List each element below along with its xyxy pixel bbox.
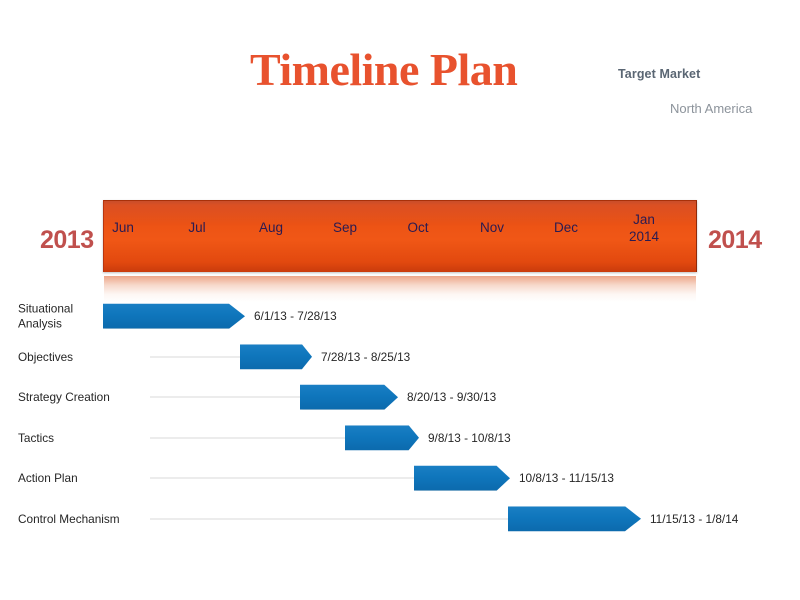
- gantt-leader-line: [150, 397, 300, 398]
- target-market-label: Target Market: [618, 67, 700, 81]
- gantt-bar[interactable]: [414, 466, 510, 491]
- gantt-bar[interactable]: [240, 344, 312, 369]
- month-tick-jun: Jun: [112, 220, 134, 237]
- gantt-bar[interactable]: [103, 304, 245, 329]
- gantt-date-label: 10/8/13 - 11/15/13: [519, 471, 614, 485]
- month-tick-oct: Oct: [407, 220, 428, 237]
- gantt-date-label: 8/20/13 - 9/30/13: [407, 390, 496, 404]
- slide-canvas: Timeline Plan Target Market North Americ…: [0, 0, 800, 600]
- target-market-value: North America: [670, 100, 760, 119]
- gantt-bar[interactable]: [300, 385, 398, 410]
- gantt-date-label: 6/1/13 - 7/28/13: [254, 309, 337, 323]
- gantt-leader-line: [150, 356, 240, 357]
- gantt-row-label: Strategy Creation: [18, 390, 148, 404]
- gantt-row: Tactics9/8/13 - 10/8/13: [0, 418, 800, 459]
- gantt-bar[interactable]: [508, 506, 641, 531]
- gantt-row: Objectives7/28/13 - 8/25/13: [0, 337, 800, 378]
- gantt-row: Control Mechanism11/15/13 - 1/8/14: [0, 499, 800, 540]
- gantt-bar-fill: [103, 304, 245, 329]
- gantt-bar-fill: [240, 344, 312, 369]
- gantt-row-label: Action Plan: [18, 471, 148, 485]
- timeline-month-band: JunJulAugSepOctNovDecJan 2014: [103, 200, 697, 272]
- gantt-date-label: 7/28/13 - 8/25/13: [321, 350, 410, 364]
- gantt-row-label: Tactics: [18, 431, 148, 445]
- month-tick-aug: Aug: [259, 220, 283, 237]
- gantt-bar-fill: [345, 425, 419, 450]
- month-tick-nov: Nov: [480, 220, 504, 237]
- gantt-bar-fill: [508, 506, 641, 531]
- month-tick-jul: Jul: [188, 220, 205, 237]
- gantt-row-label: Control Mechanism: [18, 512, 148, 526]
- gantt-leader-line: [150, 437, 345, 438]
- gantt-date-label: 9/8/13 - 10/8/13: [428, 431, 511, 445]
- year-end-label: 2014: [708, 226, 762, 255]
- gantt-bar[interactable]: [345, 425, 419, 450]
- month-tick-dec: Dec: [554, 220, 578, 237]
- gantt-row: Situational Analysis6/1/13 - 7/28/13: [0, 296, 800, 337]
- gantt-bar-fill: [300, 385, 398, 410]
- gantt-row: Action Plan10/8/13 - 11/15/13: [0, 458, 800, 499]
- page-title: Timeline Plan: [250, 46, 580, 94]
- gantt-bar-fill: [414, 466, 510, 491]
- month-tick-sep: Sep: [333, 220, 357, 237]
- gantt-rows: Situational Analysis6/1/13 - 7/28/13Obje…: [0, 296, 800, 539]
- month-tick-jan: Jan 2014: [629, 212, 659, 246]
- gantt-row: Strategy Creation8/20/13 - 9/30/13: [0, 377, 800, 418]
- gantt-row-label: Objectives: [18, 350, 148, 364]
- year-start-label: 2013: [40, 226, 94, 255]
- gantt-leader-line: [150, 478, 414, 479]
- gantt-date-label: 11/15/13 - 1/8/14: [650, 512, 738, 526]
- gantt-leader-line: [150, 518, 508, 519]
